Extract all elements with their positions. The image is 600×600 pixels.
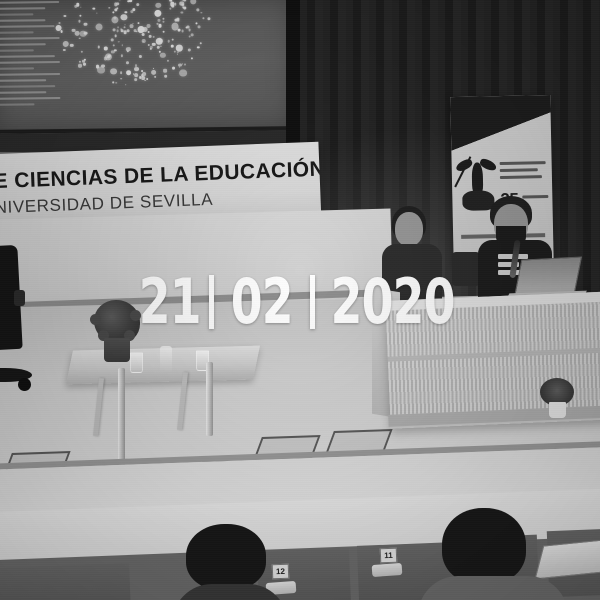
conference-photo: E CIENCIAS DE LA EDUCACIÓN NIVERSIDAD DE… [0,0,600,600]
plant-pot [104,338,130,362]
audience-desk-panel [0,563,131,600]
audience-member [178,524,274,600]
seat-number-plate: 11 [380,548,398,564]
shoulders [418,576,568,600]
water-bottle [160,346,172,372]
seat-number-plate: 12 [272,564,290,580]
chair-wheel [18,378,31,391]
shoulders [172,584,288,600]
head [395,212,423,246]
hair-or-cap [442,508,526,584]
speaker-chair [452,252,480,286]
desk-latch [372,563,403,577]
sign-line-faculty: E CIENCIAS DE LA EDUCACIÓN [0,157,321,194]
hair [186,524,266,590]
plant-pot [549,402,566,418]
banner-dark-corner [450,95,551,153]
projection-screen [0,0,295,134]
screen-frame [0,0,295,134]
podium-side-plant [540,378,574,422]
audience-member [434,508,554,600]
office-chair [0,246,36,396]
water-glass [130,352,143,373]
chair-armrest [14,290,25,306]
